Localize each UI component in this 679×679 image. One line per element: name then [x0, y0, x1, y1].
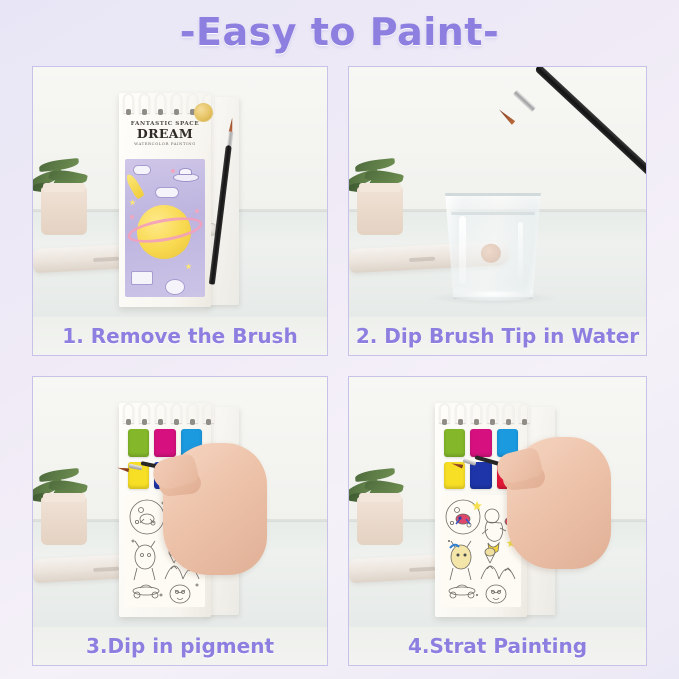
- rocket-icon: [125, 172, 145, 199]
- cover-title-block: FANTASTIC SPACE DREAM WATERCOLOR PAINTIN…: [127, 121, 203, 155]
- pot-rim: [43, 183, 85, 192]
- gold-seal-icon: [194, 103, 213, 122]
- notebook-front: FANTASTIC SPACE DREAM WATERCOLOR PAINTIN…: [119, 93, 211, 307]
- dot-icon: [195, 209, 199, 213]
- water-glass-icon: [441, 193, 545, 299]
- ufo-dome-icon: [179, 168, 192, 175]
- brush-handle: [534, 67, 646, 187]
- paint-pan-magenta[interactable]: [470, 429, 491, 457]
- paint-pan-green[interactable]: [128, 429, 149, 457]
- step-panel-3: 3.Dip in pigment: [32, 376, 328, 666]
- speech-bubble-icon: [155, 187, 179, 198]
- hand: [155, 429, 273, 579]
- cover-line-2: DREAM: [127, 127, 203, 141]
- spiral-pin: [158, 419, 163, 425]
- spiral-pin: [126, 109, 131, 115]
- step-3-caption: 3.Dip in pigment: [33, 627, 327, 665]
- cover-line-3: WATERCOLOR PAINTING: [127, 141, 203, 146]
- spiral-binding: [437, 403, 533, 425]
- hand: [499, 423, 617, 573]
- spiral-binding: [121, 403, 217, 425]
- potted-plant: [351, 155, 409, 235]
- speech-bubble-icon: [133, 165, 151, 175]
- step-1-caption: 1. Remove the Brush: [33, 317, 327, 355]
- paint-pan-dark-blue[interactable]: [470, 462, 491, 490]
- page-title: -Easy to Paint-: [0, 10, 679, 54]
- paper-icon: [131, 271, 153, 285]
- astronaut-icon: [165, 279, 185, 295]
- flower-pot: [41, 497, 87, 545]
- paint-pan-green[interactable]: [444, 429, 465, 457]
- potted-plant: [351, 465, 409, 545]
- step-3-photo: [33, 377, 327, 629]
- spiral-pin: [474, 419, 479, 425]
- flower-pot: [357, 497, 403, 545]
- pot-rim: [43, 493, 85, 502]
- flower-pot: [41, 187, 87, 235]
- dot-icon: [130, 215, 134, 219]
- glass-highlight: [518, 222, 523, 278]
- glass-body: [441, 193, 545, 299]
- cover-illustration: [125, 159, 205, 297]
- step-4-caption: 4.Strat Painting: [349, 627, 646, 665]
- step-1-photo: FANTASTIC SPACE DREAM WATERCOLOR PAINTIN…: [33, 67, 327, 319]
- brush-tip: [497, 108, 515, 125]
- spiral-pin: [142, 109, 147, 115]
- water-surface: [451, 212, 535, 215]
- spiral-pin: [174, 419, 179, 425]
- glass-base: [451, 291, 535, 301]
- step-4-photo: [349, 377, 646, 629]
- step-panel-4: 4.Strat Painting: [348, 376, 647, 666]
- glass-highlight: [459, 216, 466, 284]
- step-2-photo: [349, 67, 646, 319]
- spiral-pin: [458, 419, 463, 425]
- star-icon: [185, 263, 192, 270]
- branch-marking: [93, 567, 119, 572]
- potted-plant: [35, 155, 93, 235]
- spiral-pin: [158, 109, 163, 115]
- brush-ferrule: [513, 90, 536, 112]
- spiral-pin: [206, 419, 211, 425]
- star-icon: [129, 199, 136, 206]
- spiral-pin: [442, 419, 447, 425]
- pot-rim: [359, 493, 401, 502]
- step-2-caption: 2. Dip Brush Tip in Water: [349, 317, 646, 355]
- pot-rim: [359, 183, 401, 192]
- poster-root: -Easy to Paint-: [0, 0, 679, 679]
- flower-pot: [357, 187, 403, 235]
- spiral-pin: [126, 419, 131, 425]
- spiral-pin: [490, 419, 495, 425]
- branch-marking: [409, 567, 435, 572]
- spiral-pin: [142, 419, 147, 425]
- branch-marking: [409, 257, 435, 262]
- paintbrush-icon: [479, 69, 646, 199]
- spiral-pin: [174, 109, 179, 115]
- step-panel-1: FANTASTIC SPACE DREAM WATERCOLOR PAINTIN…: [32, 66, 328, 356]
- dot-icon: [171, 169, 175, 173]
- step-panel-2: 2. Dip Brush Tip in Water: [348, 66, 647, 356]
- branch-marking: [93, 257, 119, 262]
- spiral-pin: [190, 419, 195, 425]
- potted-plant: [35, 465, 93, 545]
